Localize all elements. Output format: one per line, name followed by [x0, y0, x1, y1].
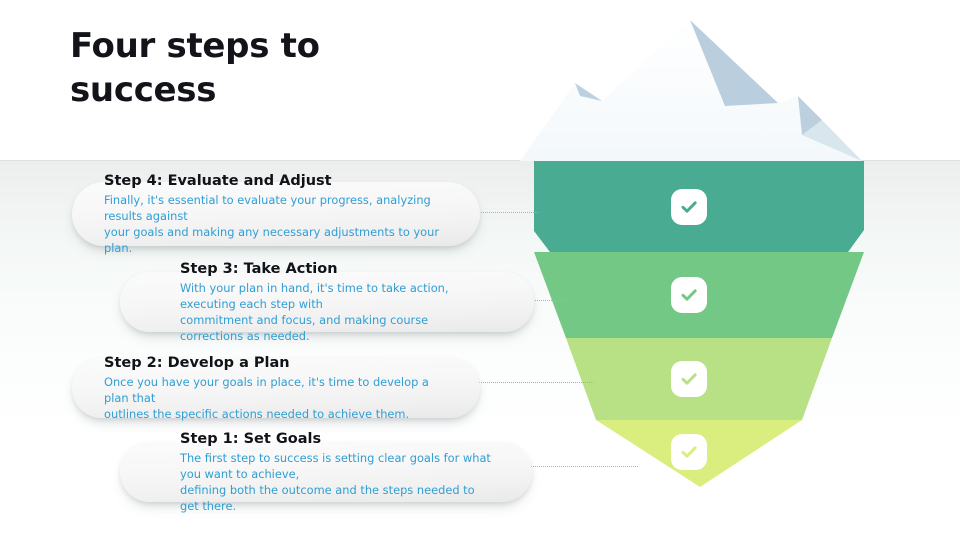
- step-card-1[interactable]: Step 1: Set Goals The first step to succ…: [120, 442, 532, 502]
- step-card-3-title: Step 3: Take Action: [180, 260, 494, 278]
- connector-step-1: [526, 466, 638, 467]
- step-card-4-title: Step 4: Evaluate and Adjust: [104, 172, 440, 190]
- step-card-1-content: Step 1: Set Goals The first step to succ…: [120, 442, 532, 502]
- step-card-3[interactable]: Step 3: Take Action With your plan in ha…: [120, 272, 534, 332]
- connector-step-4: [476, 212, 538, 213]
- step-card-1-body: The first step to success is setting cle…: [180, 450, 492, 515]
- iceberg-peak: [520, 20, 862, 161]
- check-icon-step-3: [671, 277, 707, 313]
- step-card-1-title: Step 1: Set Goals: [180, 430, 492, 448]
- step-card-2-body: Once you have your goals in place, it's …: [104, 374, 440, 423]
- check-icon-step-2: [671, 361, 707, 397]
- check-icon-step-4: [671, 189, 707, 225]
- step-card-3-content: Step 3: Take Action With your plan in ha…: [120, 272, 534, 332]
- step-card-4-body: Finally, it's essential to evaluate your…: [104, 192, 440, 257]
- step-card-2-content: Step 2: Develop a Plan Once you have you…: [72, 358, 480, 418]
- step-card-2[interactable]: Step 2: Develop a Plan Once you have you…: [72, 358, 480, 418]
- check-icon-step-1: [671, 434, 707, 470]
- step-card-3-body: With your plan in hand, it's time to tak…: [180, 280, 494, 345]
- connector-step-2: [476, 382, 594, 383]
- step-card-2-title: Step 2: Develop a Plan: [104, 354, 440, 372]
- step-card-4[interactable]: Step 4: Evaluate and Adjust Finally, it'…: [72, 182, 480, 246]
- slide-canvas: Four steps to success: [0, 0, 960, 540]
- page-title: Four steps to success: [70, 25, 470, 112]
- iceberg-funnel-graphic: [510, 0, 910, 500]
- step-card-4-content: Step 4: Evaluate and Adjust Finally, it'…: [72, 182, 480, 246]
